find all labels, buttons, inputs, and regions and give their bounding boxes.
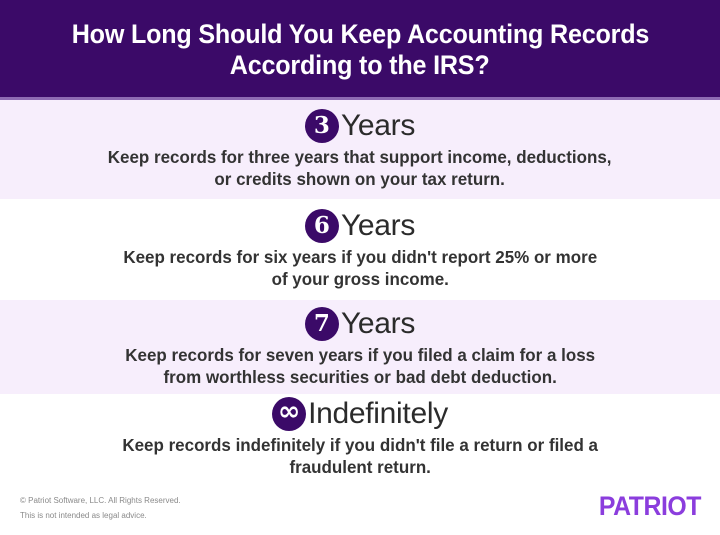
disclaimer-text: This is not intended as legal advice.: [20, 508, 181, 523]
page-title-line-1: How Long Should You Keep Accounting Reco…: [71, 19, 648, 50]
section-heading: ∞ Indefinitely: [272, 397, 448, 431]
record-section-indefinitely: ∞ Indefinitely Keep records indefinitely…: [0, 394, 720, 480]
section-heading: 3 Years: [305, 109, 415, 143]
section-description: Keep records for three years that suppor…: [108, 146, 612, 190]
copyright-text: © Patriot Software, LLC. All Rights Rese…: [20, 493, 181, 508]
patriot-logo: PATRIOT: [599, 491, 701, 522]
footer-legal-text: © Patriot Software, LLC. All Rights Rese…: [20, 493, 181, 523]
record-section-3-years: 3 Years Keep records for three years tha…: [0, 100, 720, 199]
page-title-line-2: According to the IRS?: [230, 50, 490, 81]
header-banner: How Long Should You Keep Accounting Reco…: [0, 0, 720, 97]
number-badge-icon: 6: [305, 209, 339, 243]
record-section-6-years: 6 Years Keep records for six years if yo…: [0, 199, 720, 300]
infographic-root: How Long Should You Keep Accounting Reco…: [0, 0, 720, 535]
section-heading-label: Years: [341, 308, 415, 340]
section-description: Keep records indefinitely if you didn't …: [122, 434, 598, 478]
record-section-7-years: 7 Years Keep records for seven years if …: [0, 300, 720, 394]
infinity-badge-icon: ∞: [272, 397, 306, 431]
section-description: Keep records for six years if you didn't…: [123, 246, 597, 290]
number-badge-icon: 7: [305, 307, 339, 341]
section-heading-label: Years: [341, 110, 415, 142]
footer: © Patriot Software, LLC. All Rights Rese…: [0, 480, 720, 535]
section-heading-label: Indefinitely: [308, 398, 448, 430]
section-heading: 6 Years: [305, 209, 415, 243]
section-description: Keep records for seven years if you file…: [125, 344, 595, 388]
number-badge-icon: 3: [305, 109, 339, 143]
section-heading-label: Years: [341, 210, 415, 242]
section-heading: 7 Years: [305, 307, 415, 341]
